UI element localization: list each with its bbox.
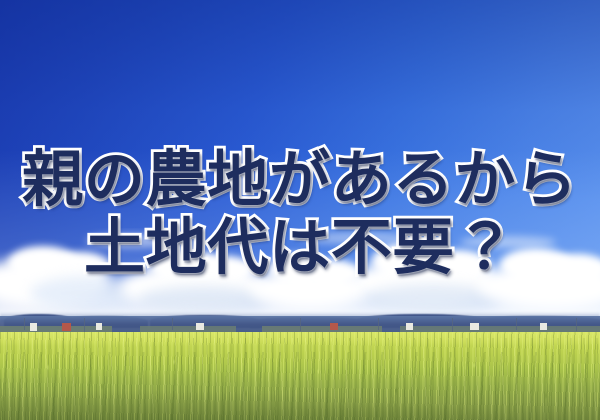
utility-pole bbox=[300, 318, 301, 331]
cloud-puff bbox=[548, 254, 600, 284]
utility-pole bbox=[516, 318, 517, 330]
horizon-building bbox=[30, 323, 37, 331]
horizon-building bbox=[196, 323, 204, 330]
utility-pole bbox=[576, 318, 577, 331]
cloud-wisp bbox=[460, 236, 556, 248]
cloud-puff bbox=[428, 250, 490, 282]
utility-pole bbox=[172, 318, 173, 330]
cloud-shadow-puff bbox=[138, 286, 268, 312]
utility-pole bbox=[24, 318, 25, 330]
cloud-wisp bbox=[300, 232, 410, 244]
horizon-building bbox=[96, 323, 102, 330]
cloud-wisp bbox=[86, 234, 176, 248]
horizon-building bbox=[330, 323, 338, 330]
utility-pole bbox=[452, 318, 453, 332]
field-shading bbox=[0, 332, 600, 420]
utility-pole bbox=[84, 318, 85, 332]
horizon-building bbox=[540, 323, 547, 330]
horizon-building bbox=[470, 323, 479, 330]
utility-pole bbox=[378, 318, 379, 330]
banner-image: 親の農地があるから 土地代は不要？ bbox=[0, 0, 600, 420]
rice-field bbox=[0, 332, 600, 420]
horizon-building bbox=[406, 323, 413, 330]
cloud-puff bbox=[196, 256, 254, 284]
horizon-building bbox=[62, 323, 71, 331]
